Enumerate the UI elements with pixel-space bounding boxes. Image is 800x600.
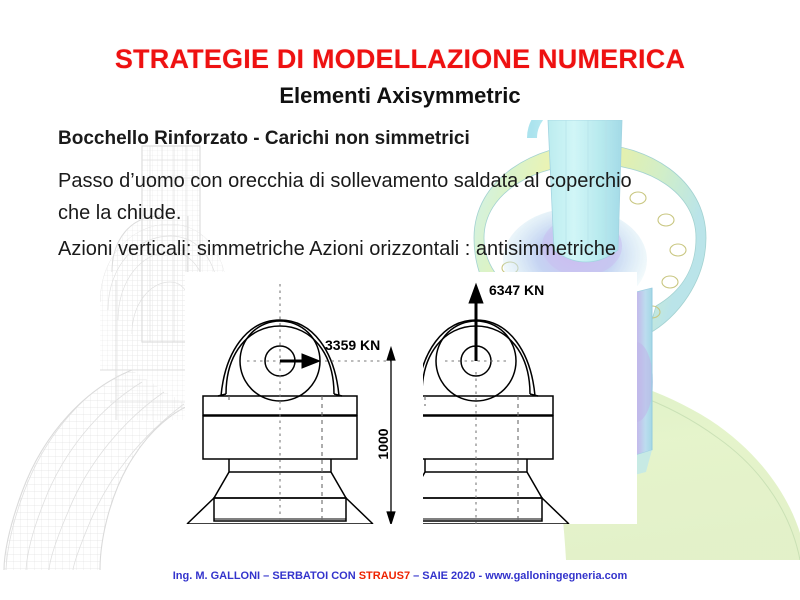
right-load-label: 6347 KN [489, 282, 544, 298]
actions-line: Azioni verticali: simmetriche Azioni ori… [58, 238, 616, 261]
technical-drawings-panel: 3359 KN 1000 [185, 272, 637, 524]
drawing-horizontal-load: 3359 KN 1000 [185, 272, 423, 524]
left-load-label: 3359 KN [325, 337, 380, 353]
paragraph-line-2: che la chiude. [58, 202, 181, 225]
footer-suffix: – SAIE 2020 - www.galloningegneria.com [410, 570, 627, 582]
drawing-vertical-load: 6347 KN [423, 272, 637, 524]
slide-subtitle: Elementi Axisymmetric [0, 83, 800, 109]
paragraph-line-1: Passo d’uomo con orecchia di sollevament… [58, 170, 632, 193]
slide-canvas: STRATEGIE DI MODELLAZIONE NUMERICA Eleme… [0, 0, 800, 600]
footer-highlight: STRAUS7 [359, 570, 410, 582]
bullet-heading: Bocchello Rinforzato - Carichi non simme… [58, 128, 470, 150]
footer-credit: Ing. M. GALLONI – SERBATOI CON STRAUS7 –… [0, 570, 800, 582]
slide-title: STRATEGIE DI MODELLAZIONE NUMERICA [0, 44, 800, 75]
footer-prefix: Ing. M. GALLONI – SERBATOI CON [173, 570, 359, 582]
left-dimension-label: 1000 [375, 428, 391, 459]
